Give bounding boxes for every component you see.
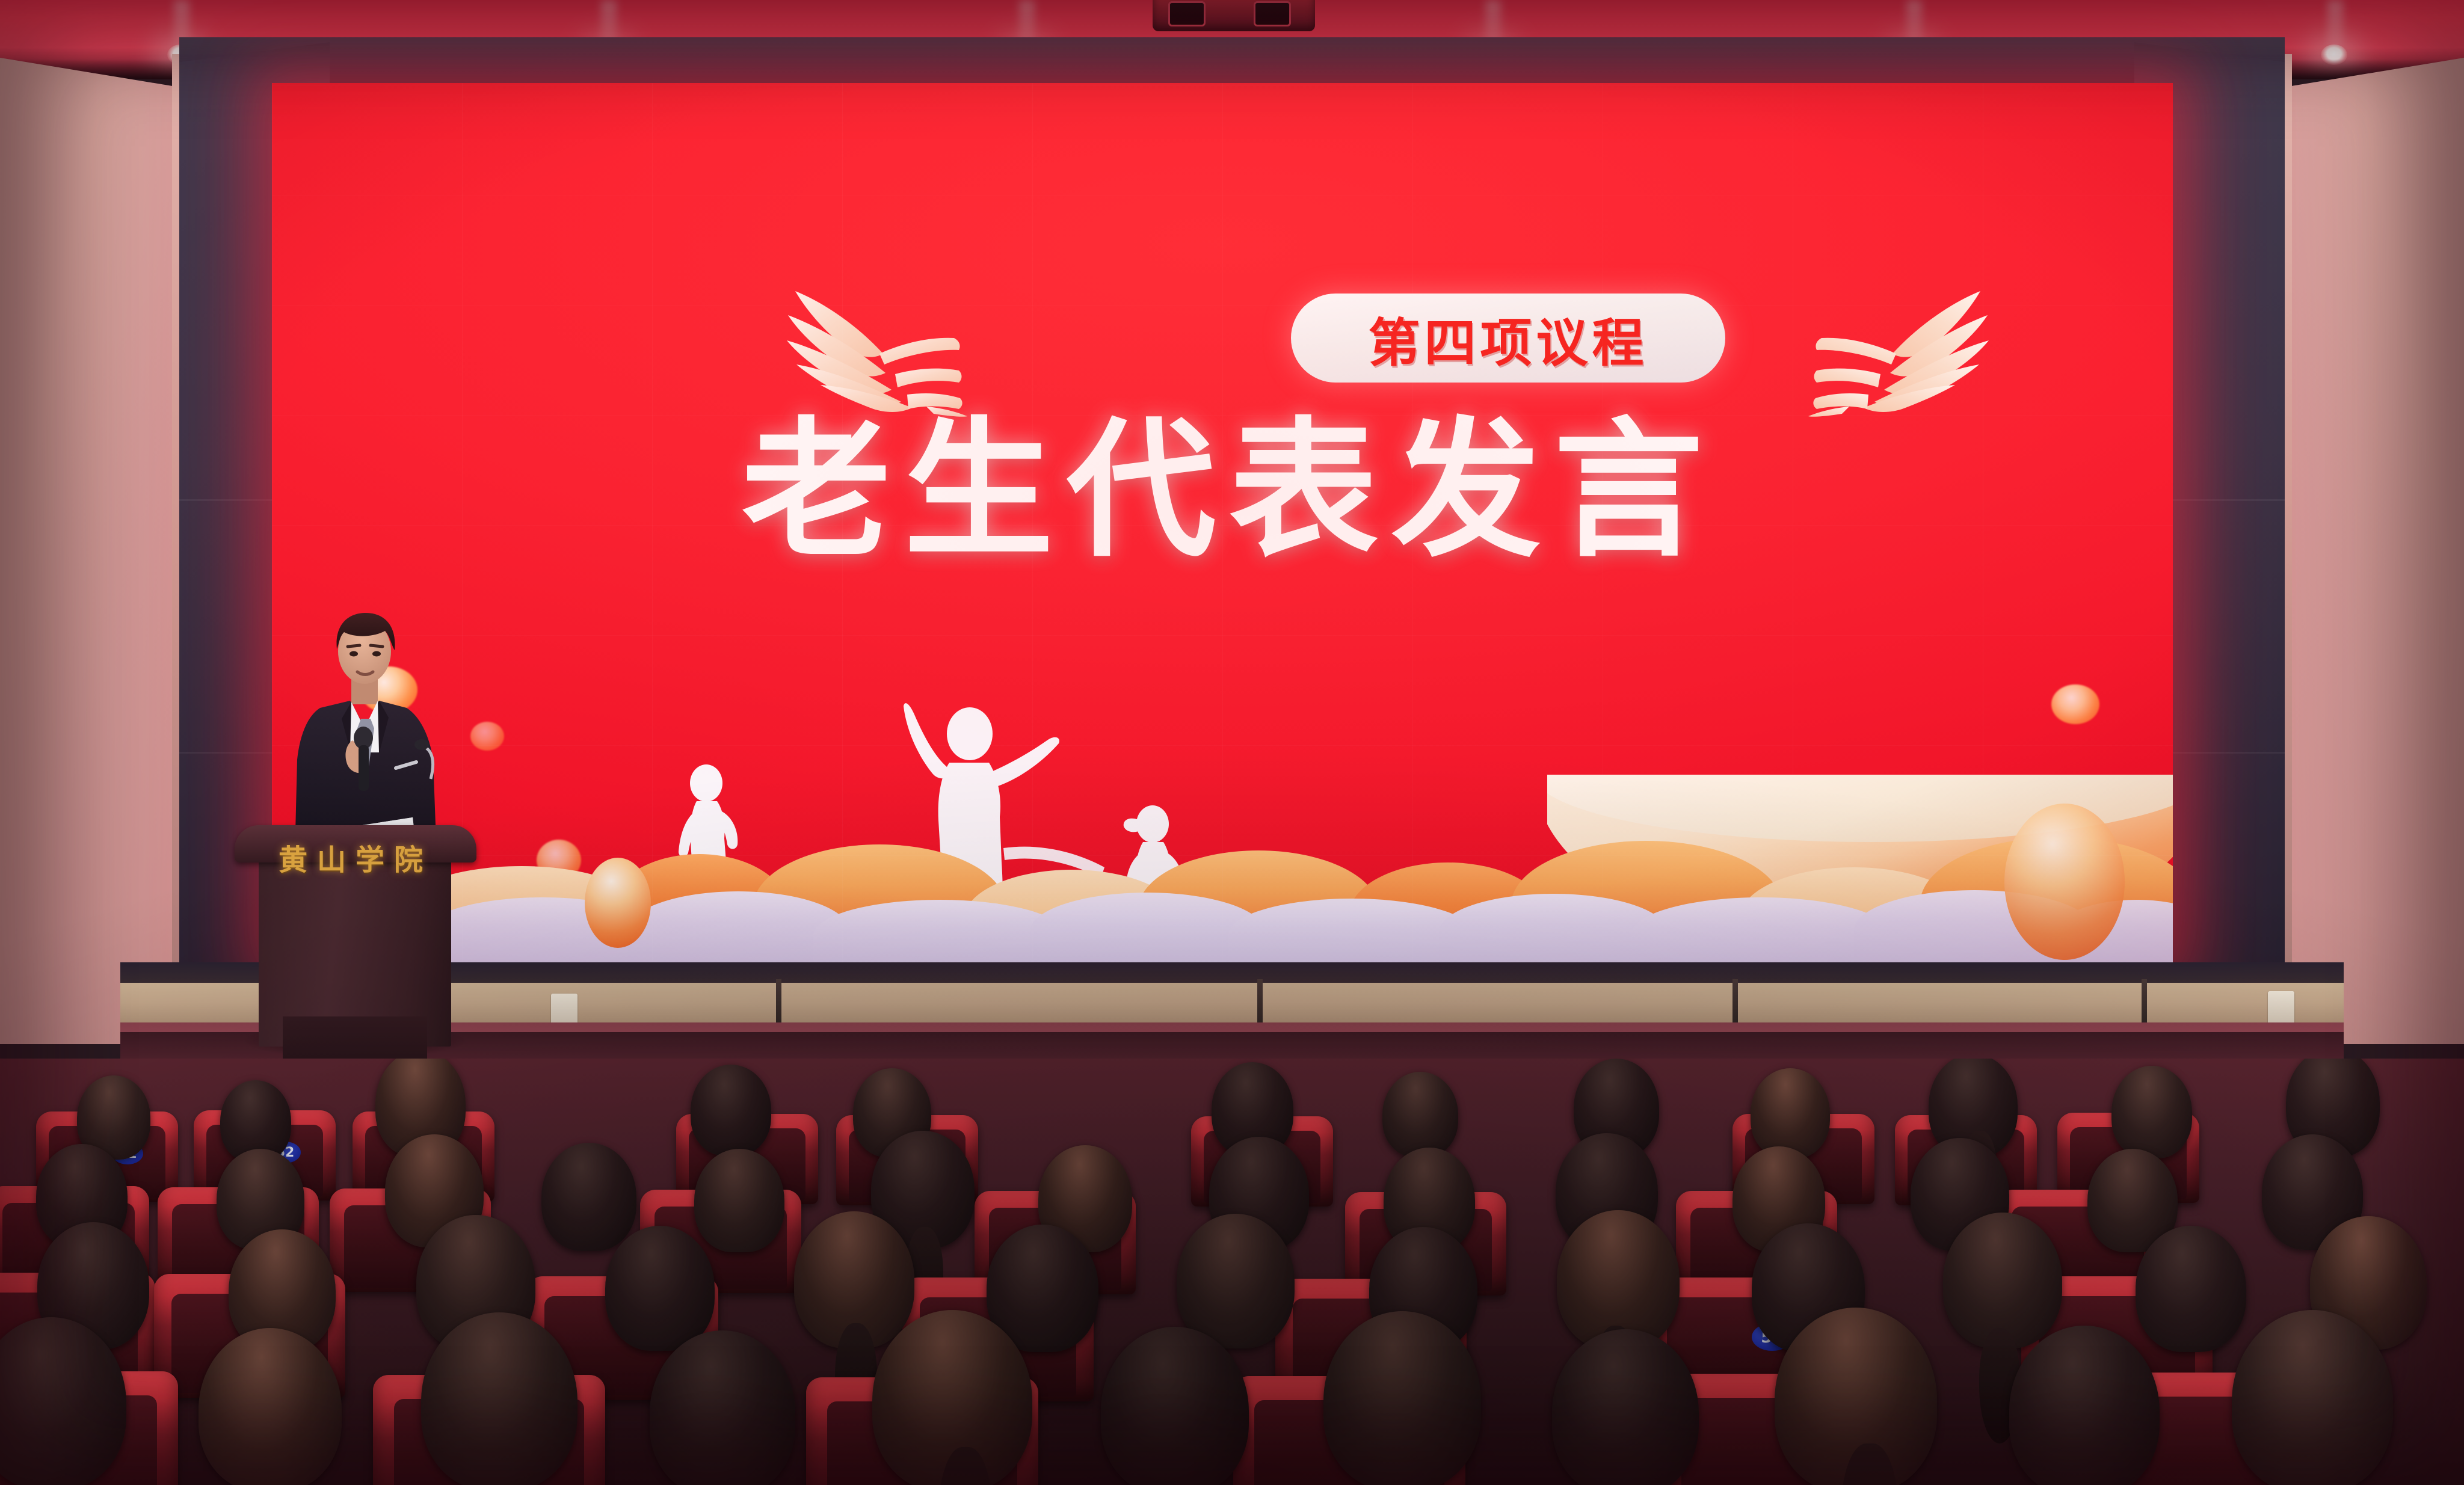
agenda-badge-text: 第四项议程 xyxy=(1369,301,1648,376)
audience-head xyxy=(650,1330,795,1485)
right-side-wall xyxy=(2284,58,2464,1044)
audience-head xyxy=(541,1143,636,1251)
audience-head xyxy=(1101,1327,1249,1485)
audience-head xyxy=(2232,1310,2393,1485)
wing-left-icon xyxy=(783,283,976,417)
audience-head xyxy=(694,1149,784,1252)
glow-orb xyxy=(470,722,504,751)
audience-head xyxy=(691,1065,771,1156)
podium-engraved-name: 黄山学院 xyxy=(235,836,476,878)
audience-head xyxy=(1382,1072,1458,1157)
audience-head xyxy=(1552,1329,1699,1485)
cloud-layer-front xyxy=(272,881,2173,966)
led-display-screen: 第四项议程 老生代表发言 xyxy=(272,83,2173,966)
audience-head xyxy=(2136,1226,2246,1352)
cloud-egg-orb xyxy=(2004,804,2125,960)
audience-head xyxy=(1751,1068,1830,1158)
ceiling-projector-icon xyxy=(1153,0,1315,31)
left-side-wall xyxy=(0,58,180,1044)
audience-head xyxy=(605,1226,715,1351)
audience-head xyxy=(1177,1214,1295,1348)
audience-head xyxy=(2111,1066,2192,1158)
ceiling-downlight xyxy=(2321,45,2347,65)
wing-right-icon xyxy=(1800,283,1992,417)
screen-headline: 老生代表发言 xyxy=(272,413,2173,569)
auditorium-stage-photo: 第四项议程 老生代表发言 xyxy=(0,0,2464,1485)
agenda-badge: 第四项议程 xyxy=(1291,294,1725,383)
glow-orb xyxy=(2051,684,2099,724)
audience-head xyxy=(421,1312,577,1485)
audience-head xyxy=(199,1328,342,1485)
audience-head xyxy=(1323,1311,1481,1485)
speaker-at-podium xyxy=(289,598,445,857)
audience-seating: 51 52 53 54 xyxy=(0,1059,2464,1485)
stage-apron-panel xyxy=(120,983,2344,1027)
audience-head xyxy=(2009,1326,2160,1485)
cloud-egg-orb xyxy=(585,858,651,948)
